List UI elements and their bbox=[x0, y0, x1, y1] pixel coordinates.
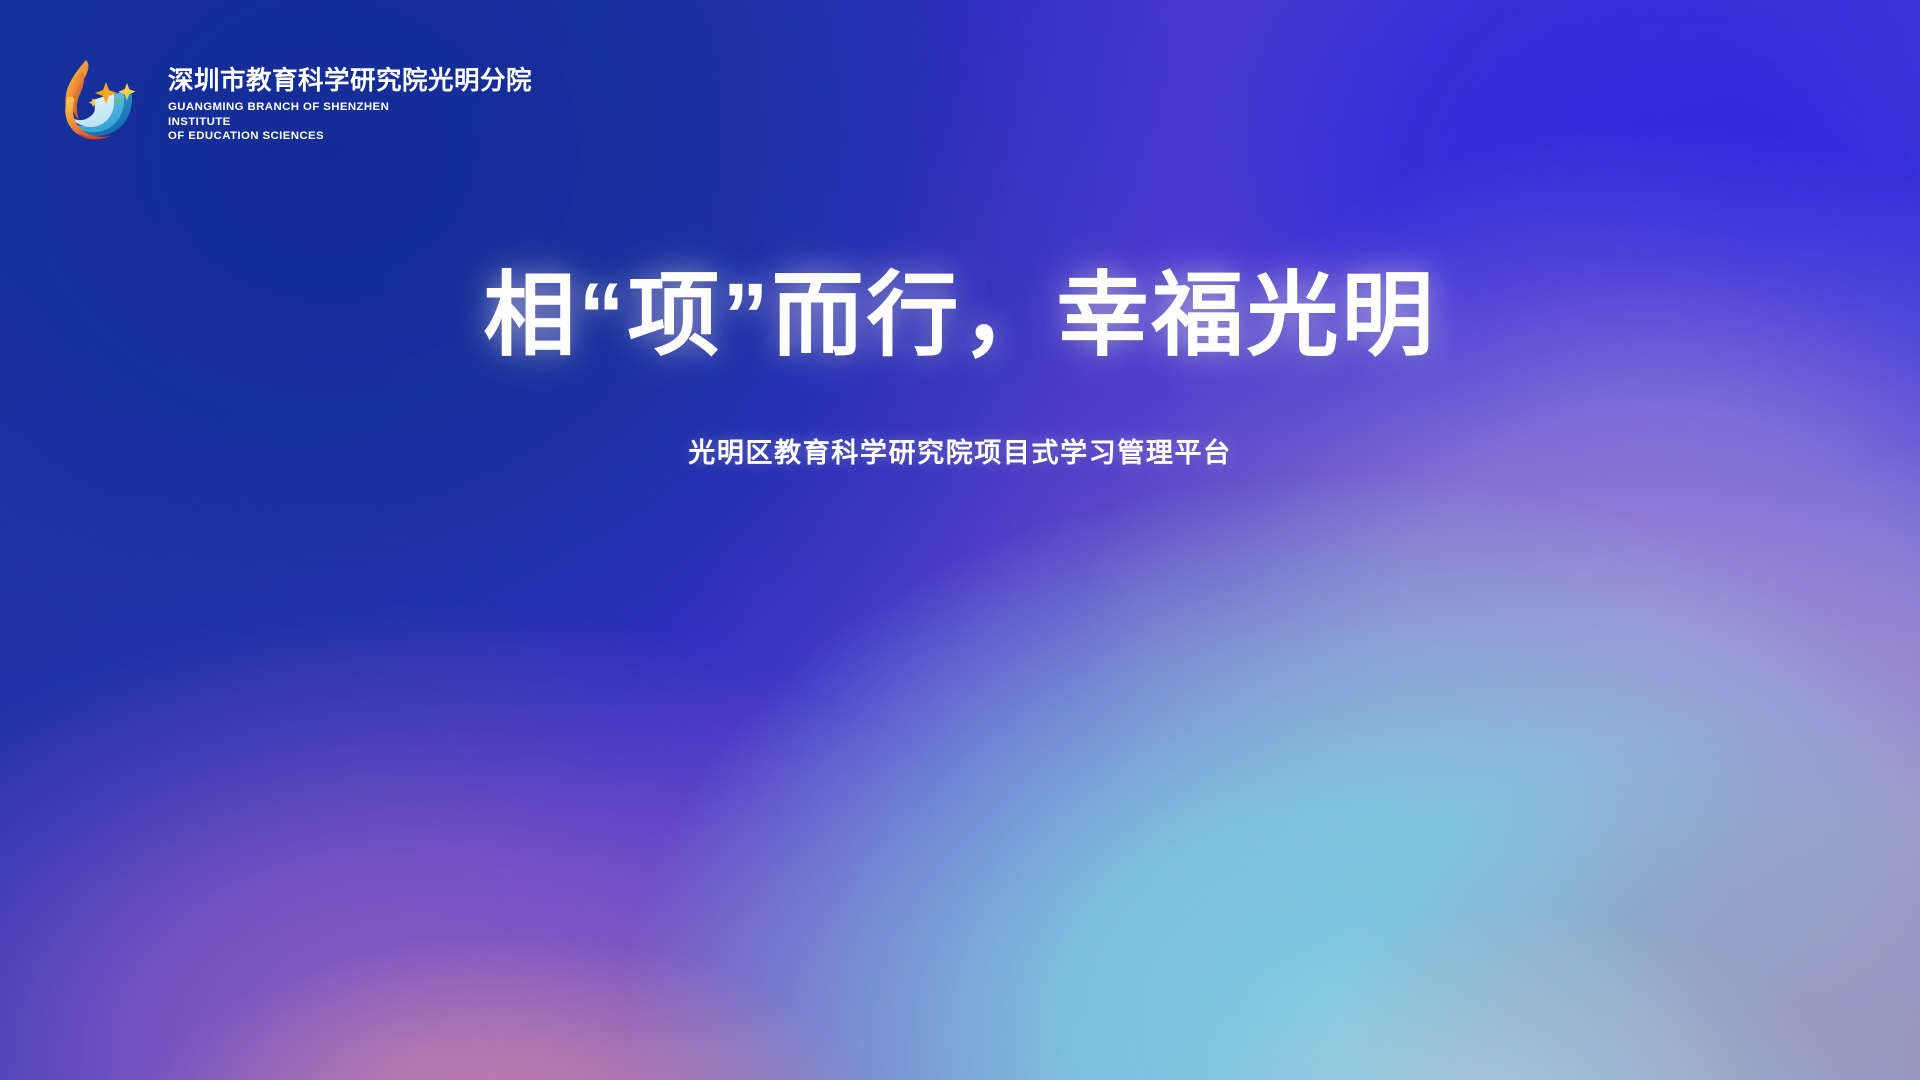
logo-name-en-line2: OF EDUCATION SCIENCES bbox=[168, 130, 324, 142]
logo-lockup[interactable]: 深圳市教育科学研究院光明分院 GUANGMING BRANCH OF SHENZ… bbox=[48, 54, 532, 154]
logo-name-en: GUANGMING BRANCH OF SHENZHEN INSTITUTE O… bbox=[168, 100, 448, 143]
logo-name-cn: 深圳市教育科学研究院光明分院 bbox=[168, 67, 532, 96]
logo-name-en-line1: GUANGMING BRANCH OF SHENZHEN INSTITUTE bbox=[168, 101, 389, 127]
page-title: 相“项”而行，幸福光明 bbox=[0, 262, 1920, 371]
page-subtitle: 光明区教育科学研究院项目式学习管理平台 bbox=[0, 371, 1920, 470]
logo-text-block: 深圳市教育科学研究院光明分院 GUANGMING BRANCH OF SHENZ… bbox=[168, 65, 532, 144]
hero-screen: 深圳市教育科学研究院光明分院 GUANGMING BRANCH OF SHENZ… bbox=[0, 0, 1920, 1080]
flame-swoosh-logo-icon bbox=[48, 54, 152, 154]
hero-text-block: 相“项”而行，幸福光明 光明区教育科学研究院项目式学习管理平台 bbox=[0, 262, 1920, 470]
